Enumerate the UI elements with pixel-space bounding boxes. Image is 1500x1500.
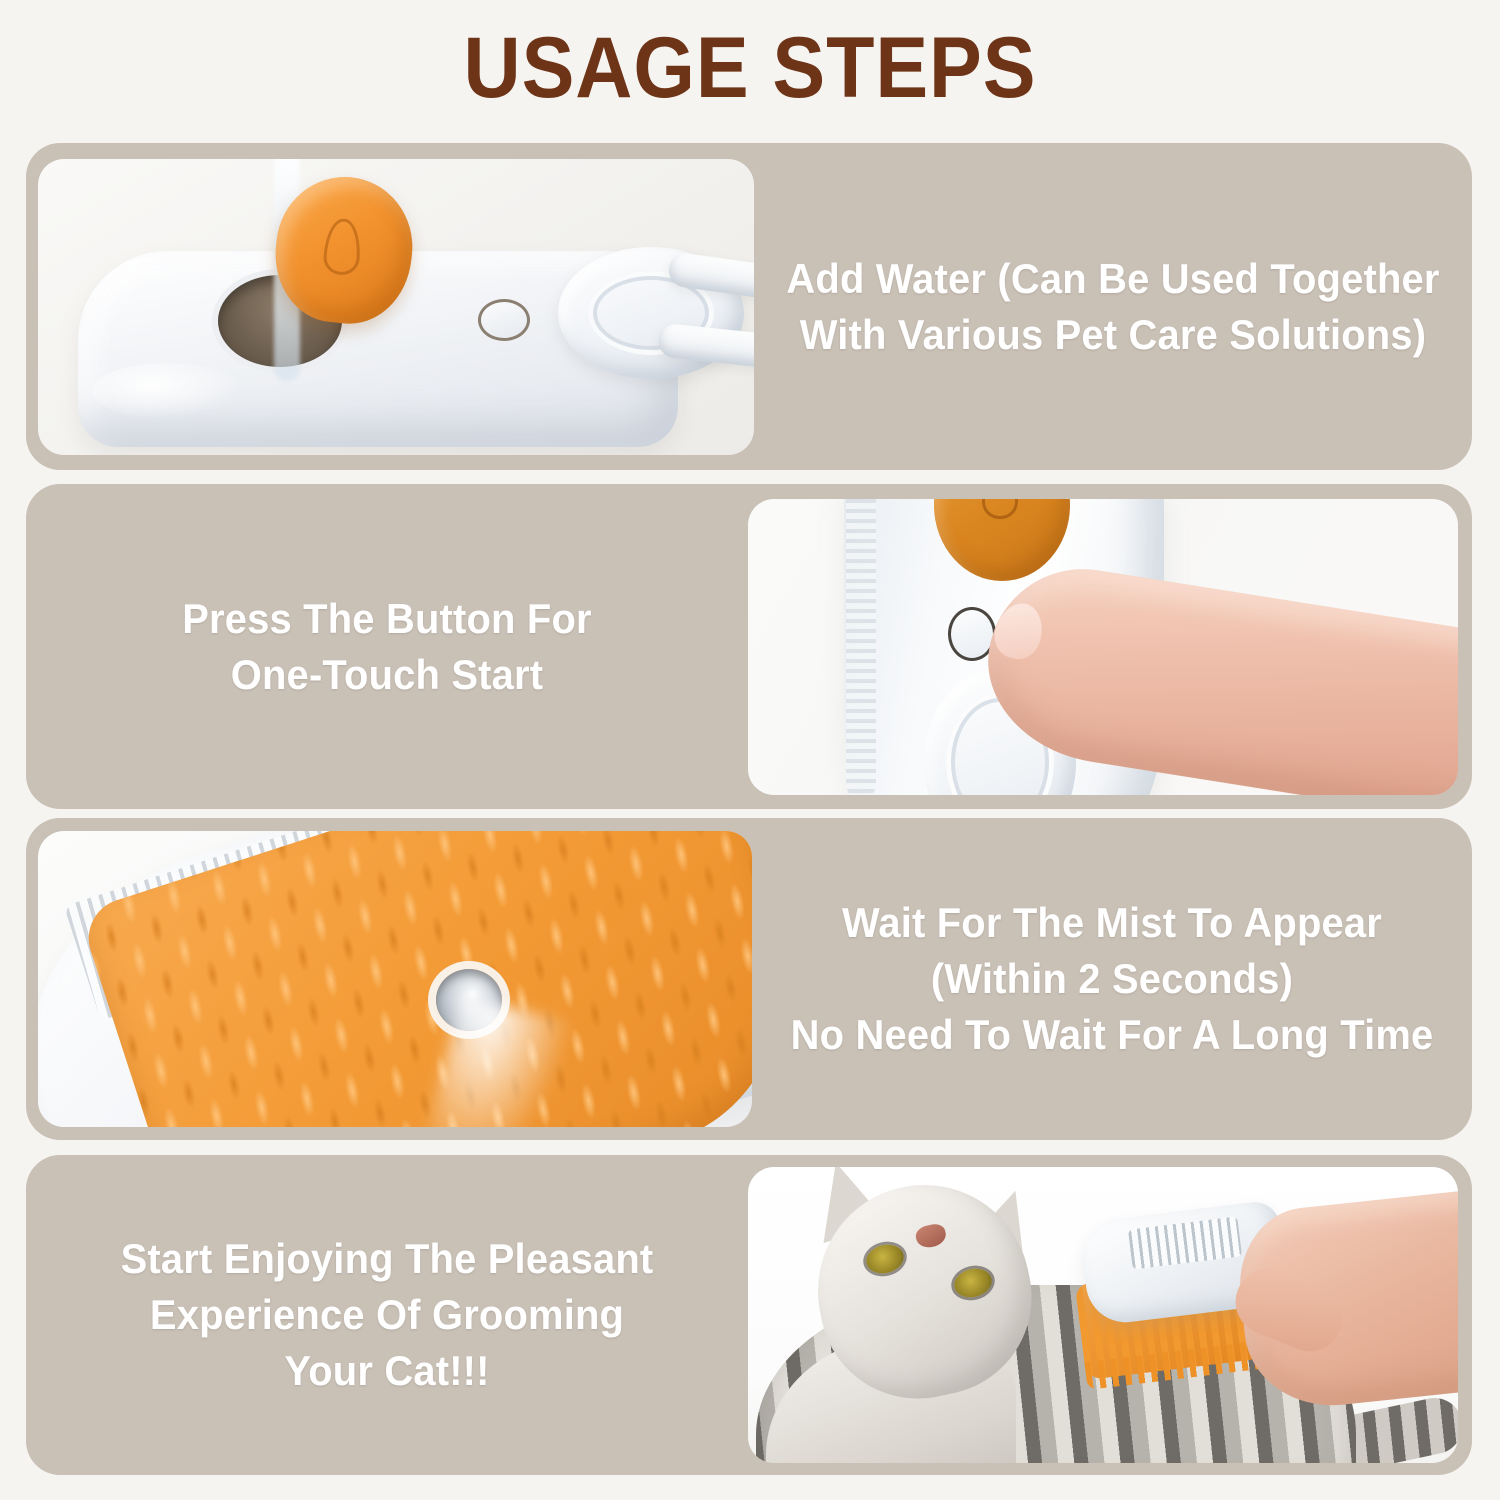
step-2-caption-line-2: One-Touch Start xyxy=(57,647,716,703)
step-2-caption: Press The Button For One-Touch Start xyxy=(44,591,730,703)
step-1-photo-add-water xyxy=(38,159,754,455)
step-1-caption-line-2: With Various Pet Care Solutions) xyxy=(785,307,1441,363)
step-2-photo-press-button xyxy=(748,499,1458,795)
step-3-photo-mist-appears xyxy=(38,831,752,1127)
device-grip-ridges xyxy=(846,499,876,795)
step-1-caption: Add Water (Can Be Used Together With Var… xyxy=(772,251,1454,363)
step-3-caption-line-1: Wait For The Mist To Appear xyxy=(783,895,1440,951)
step-3-caption-line-2: (Within 2 Seconds) xyxy=(783,951,1440,1007)
step-row-3: Wait For The Mist To Appear (Within 2 Se… xyxy=(26,818,1472,1140)
step-2-caption-line-1: Press The Button For xyxy=(57,591,716,647)
step-1-caption-line-1: Add Water (Can Be Used Together xyxy=(785,251,1441,307)
step-3-caption: Wait For The Mist To Appear (Within 2 Se… xyxy=(770,895,1454,1063)
step-4-caption-line-2: Experience Of Grooming xyxy=(57,1287,716,1343)
step-4-photo-grooming-cat xyxy=(748,1167,1458,1463)
step-4-caption-line-1: Start Enjoying The Pleasant xyxy=(57,1231,716,1287)
step-4-caption: Start Enjoying The Pleasant Experience O… xyxy=(44,1231,730,1399)
step-row-4: Start Enjoying The Pleasant Experience O… xyxy=(26,1155,1472,1475)
indicator-light xyxy=(478,299,530,341)
page-title: USAGE STEPS xyxy=(60,18,1440,118)
water-droplet-icon xyxy=(322,217,362,275)
water-droplet-icon xyxy=(982,499,1018,519)
step-4-caption-line-3: Your Cat!!! xyxy=(57,1343,716,1399)
step-row-1: Add Water (Can Be Used Together With Var… xyxy=(26,143,1472,470)
step-row-2: Press The Button For One-Touch Start xyxy=(26,484,1472,809)
usage-steps-infographic: USAGE STEPS Add Water (Can Be Used Toget… xyxy=(0,0,1500,1500)
step-3-caption-line-3: No Need To Wait For A Long Time xyxy=(783,1007,1440,1063)
